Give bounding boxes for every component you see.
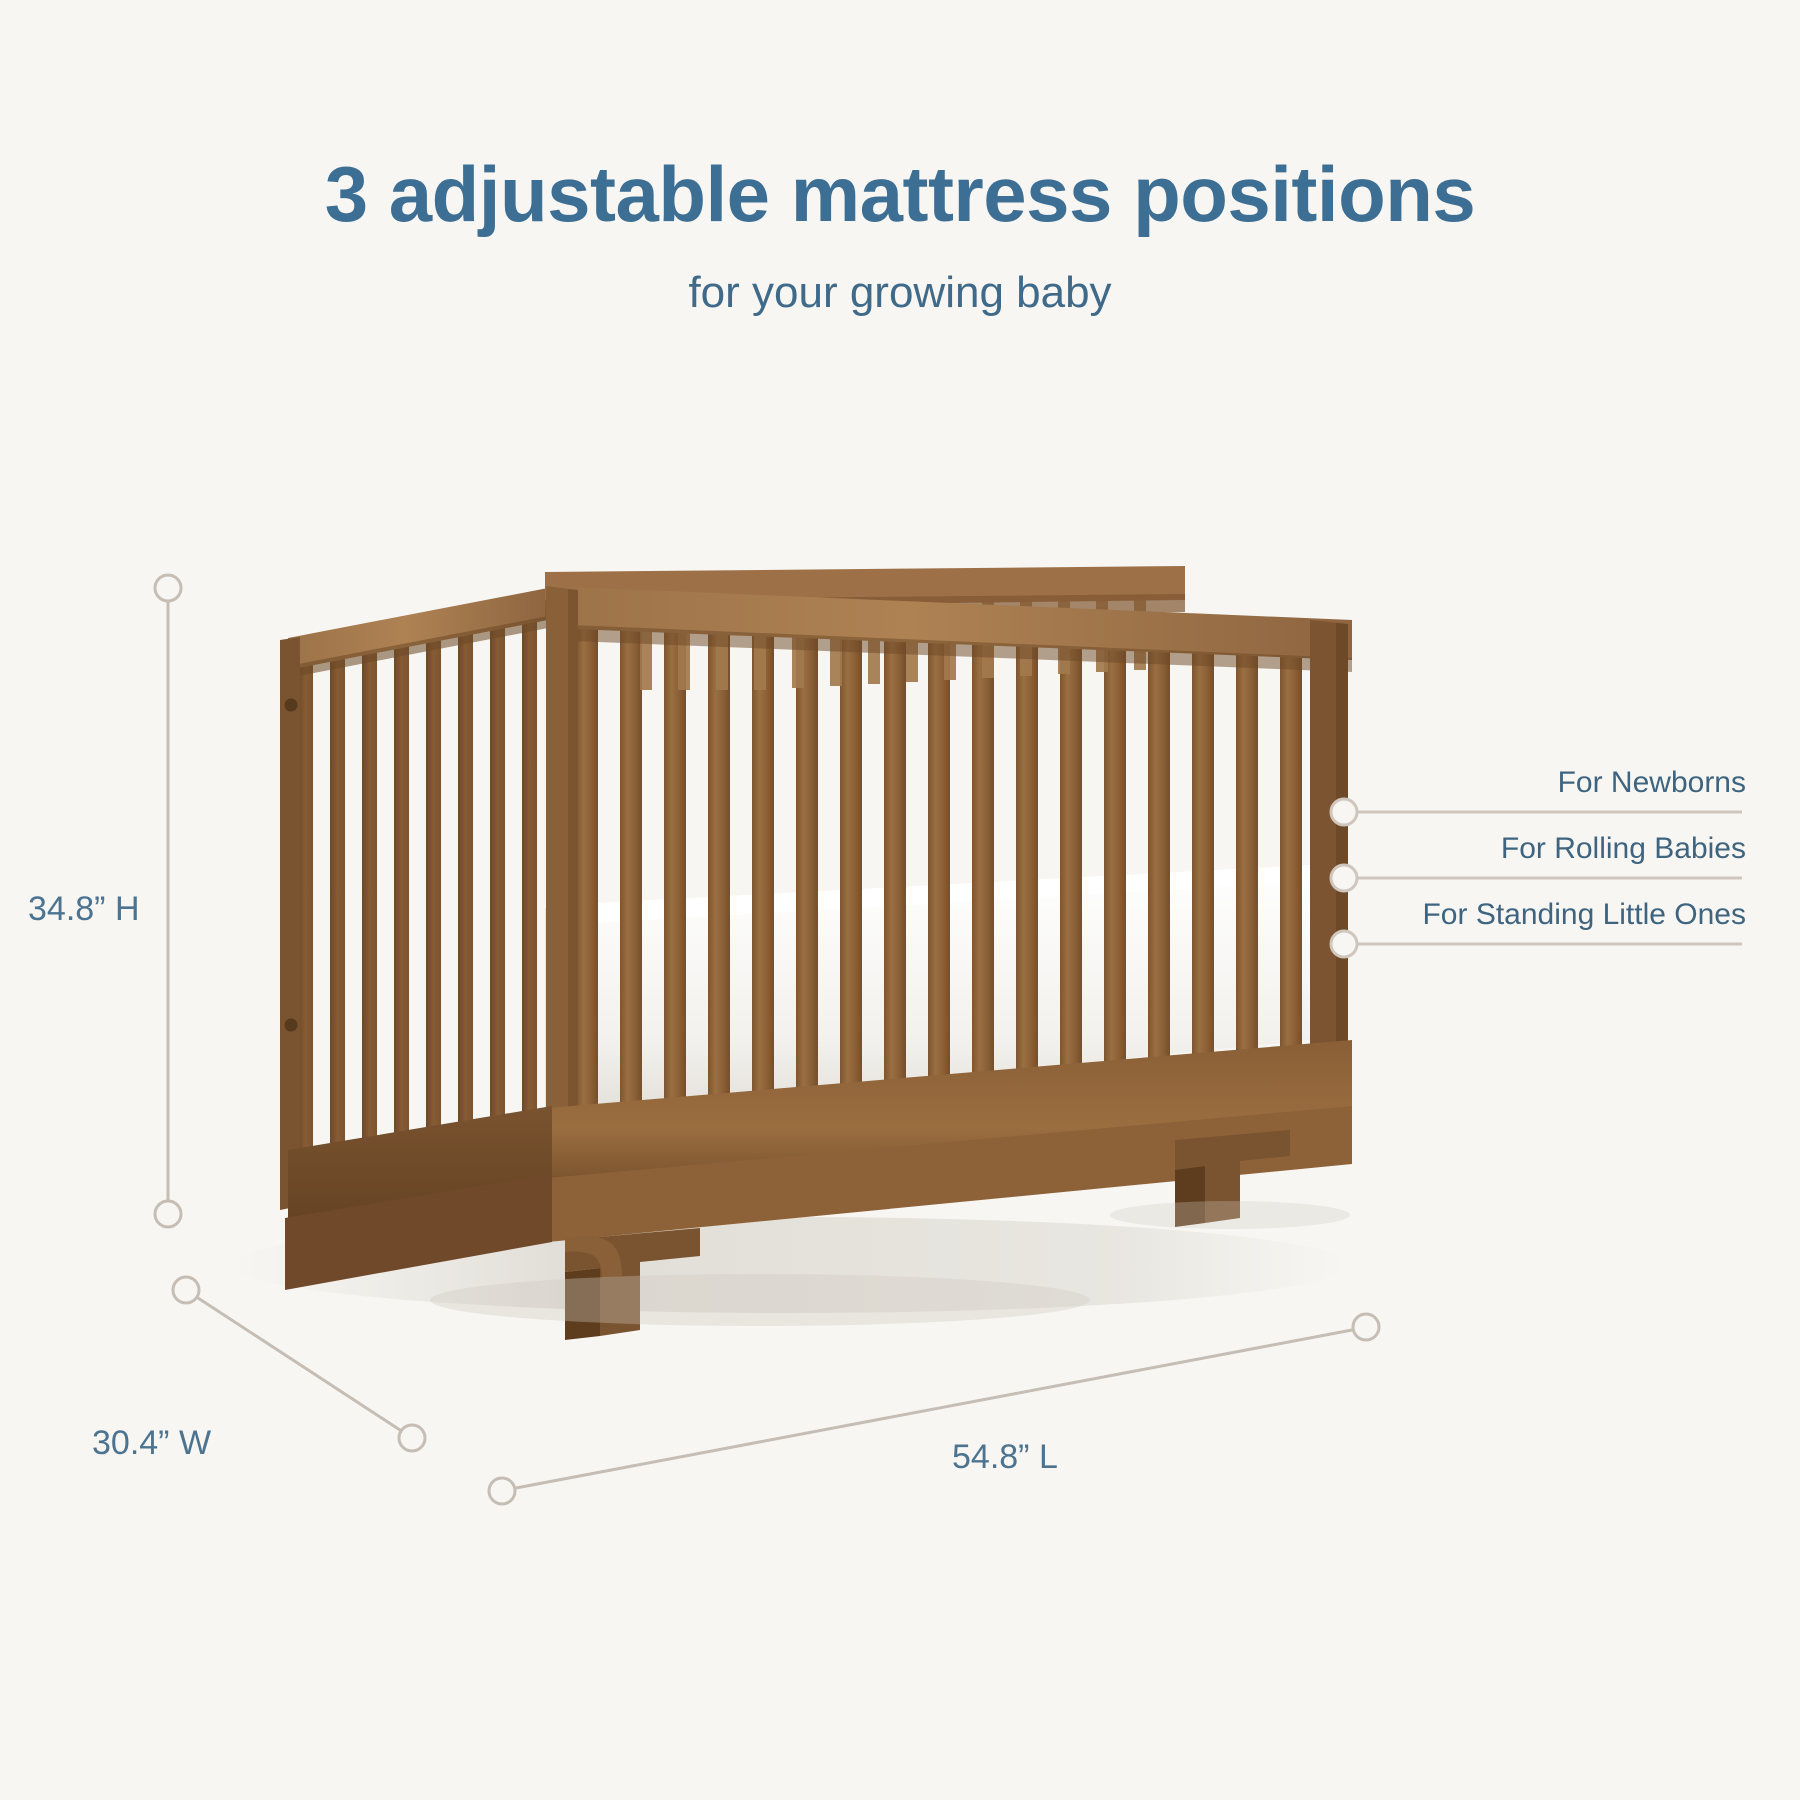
dimension-line-length xyxy=(489,1314,1379,1504)
callout-leader-lines xyxy=(1331,799,1742,957)
dimension-lines-layer xyxy=(0,0,1800,1800)
infographic-canvas: 3 adjustable mattress positions for your… xyxy=(0,0,1800,1800)
dimension-line-width xyxy=(173,1277,425,1451)
dimension-line-height xyxy=(155,575,181,1227)
